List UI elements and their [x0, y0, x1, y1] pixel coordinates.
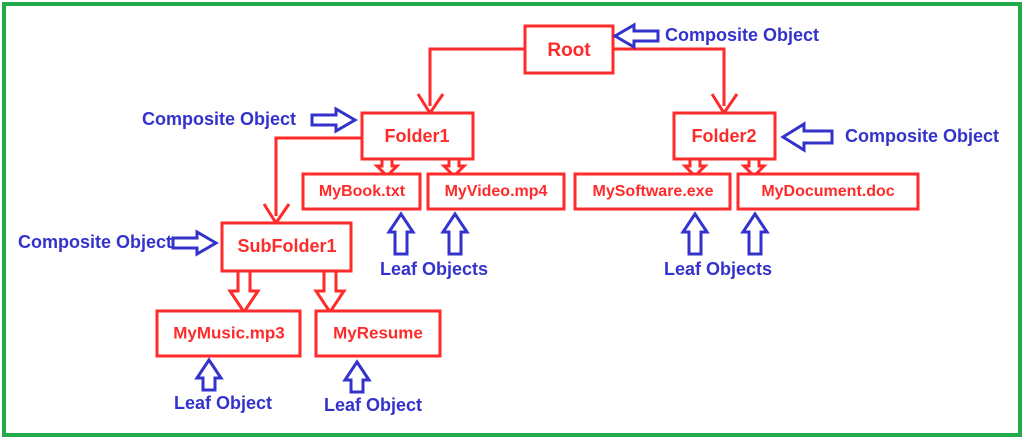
- node-myvideo-label: MyVideo.mp4: [445, 183, 548, 200]
- annotation-leaf-objects-right: Leaf Objects: [664, 214, 772, 279]
- node-mysoftware-label: MySoftware.exe: [593, 183, 714, 200]
- composite-pattern-diagram: Root Folder1 Folder2 MyBook.txt MyVideo.…: [0, 0, 1024, 439]
- arrow-up-icon: [197, 360, 221, 390]
- outer-frame-border: [4, 4, 1020, 435]
- diagram-canvas: Root Folder1 Folder2 MyBook.txt MyVideo.…: [0, 0, 1024, 439]
- node-mybook-label: MyBook.txt: [319, 183, 406, 200]
- edge-subfolder1-to-myresume: [316, 271, 344, 312]
- arrow-left-icon: [615, 25, 658, 47]
- edge-root-to-folder2: [613, 49, 737, 113]
- annotation-subfolder1: Composite Object: [18, 232, 216, 254]
- annotation-leaf-object-myresume-label: Leaf Object: [324, 395, 422, 415]
- annotation-leaf-object-myresume: Leaf Object: [324, 362, 422, 415]
- annotation-leaf-objects-left-label: Leaf Objects: [380, 259, 488, 279]
- annotation-leaf-objects-left: Leaf Objects: [380, 214, 488, 279]
- arrow-left-icon: [783, 124, 832, 150]
- node-myvideo[interactable]: MyVideo.mp4: [428, 174, 564, 209]
- annotation-folder2-label: Composite Object: [845, 126, 999, 146]
- annotation-leaf-object-mymusic-label: Leaf Object: [174, 393, 272, 413]
- node-mydocument[interactable]: MyDocument.doc: [738, 174, 918, 209]
- arrow-up-icon: [389, 214, 413, 254]
- node-folder2[interactable]: Folder2: [674, 113, 775, 159]
- arrow-up-icon: [743, 214, 767, 254]
- arrow-up-icon: [443, 214, 467, 254]
- node-subfolder1-label: SubFolder1: [237, 236, 336, 256]
- node-folder1[interactable]: Folder1: [362, 113, 473, 159]
- annotation-folder1-label: Composite Object: [142, 109, 296, 129]
- node-root[interactable]: Root: [525, 26, 613, 73]
- node-subfolder1[interactable]: SubFolder1: [222, 223, 351, 271]
- annotation-leaf-object-mymusic: Leaf Object: [174, 360, 272, 413]
- node-root-label: Root: [547, 40, 591, 61]
- node-mydocument-label: MyDocument.doc: [761, 183, 894, 200]
- node-mymusic-label: MyMusic.mp3: [173, 323, 284, 342]
- node-mysoftware[interactable]: MySoftware.exe: [575, 174, 730, 209]
- annotation-leaf-objects-right-label: Leaf Objects: [664, 259, 772, 279]
- annotation-folder2: Composite Object: [783, 124, 999, 150]
- arrow-up-icon: [345, 362, 369, 392]
- node-mymusic[interactable]: MyMusic.mp3: [157, 311, 300, 356]
- arrow-right-icon: [312, 109, 355, 131]
- arrow-right-icon: [173, 232, 216, 254]
- node-myresume[interactable]: MyResume: [316, 311, 440, 356]
- node-mybook[interactable]: MyBook.txt: [303, 174, 420, 209]
- annotation-root: Composite Object: [615, 25, 819, 47]
- edge-root-to-folder1: [418, 49, 525, 113]
- annotation-subfolder1-label: Composite Object: [18, 232, 172, 252]
- node-myresume-label: MyResume: [333, 323, 423, 342]
- edge-subfolder1-to-mymusic: [230, 271, 258, 312]
- arrow-up-icon: [683, 214, 707, 254]
- node-layer: Root Folder1 Folder2 MyBook.txt MyVideo.…: [157, 26, 918, 356]
- annotation-folder1: Composite Object: [142, 109, 355, 131]
- annotation-root-label: Composite Object: [665, 25, 819, 45]
- node-folder1-label: Folder1: [384, 126, 449, 146]
- node-folder2-label: Folder2: [691, 126, 756, 146]
